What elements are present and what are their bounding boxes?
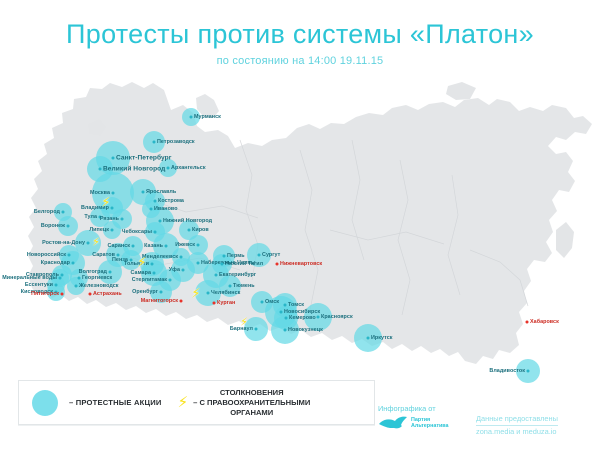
city-marker — [59, 277, 62, 280]
city-label: Самара — [131, 270, 151, 276]
city-marker — [276, 263, 279, 266]
data-source-line1: Данные предоставлены — [476, 413, 558, 426]
city-marker — [61, 293, 64, 296]
party-bird-icon — [378, 415, 408, 431]
city-marker — [190, 116, 193, 119]
city-marker — [207, 292, 210, 295]
city-marker — [182, 269, 185, 272]
city-marker — [109, 271, 112, 274]
city-label: Кемерово — [289, 315, 316, 321]
city-label: Железноводск — [79, 283, 119, 289]
data-source: Данные предоставлены zona.media и meduza… — [476, 413, 558, 437]
city-marker — [215, 274, 218, 277]
city-marker — [151, 263, 154, 266]
legend-clash-line1: СТОЛКНОВЕНИЯ — [193, 388, 310, 398]
city-label: Санкт-Петербург — [116, 155, 172, 162]
city-marker — [111, 207, 114, 210]
credits: Инфографика от Партия Альтернатива Данны… — [378, 404, 588, 444]
city-label: Великий Новгород — [103, 166, 165, 173]
city-label: Краснодар — [41, 260, 70, 266]
city-marker — [121, 218, 124, 221]
protest-circle-icon — [32, 390, 58, 416]
city-label: Нижний Тагил — [225, 261, 263, 267]
city-marker — [68, 254, 71, 257]
data-source-line2: zona.media и meduza.io — [476, 426, 558, 437]
city-marker — [112, 157, 115, 160]
city-label: Липецк — [89, 227, 109, 233]
city-marker — [284, 304, 287, 307]
city-label: Астрахань — [93, 291, 122, 297]
city-marker — [89, 293, 92, 296]
city-label: Воронеж — [41, 223, 65, 229]
city-marker — [72, 262, 75, 265]
city-label: Тула — [84, 214, 97, 220]
infographic-by-label: Инфографика от — [378, 404, 436, 413]
city-marker — [229, 285, 232, 288]
city-label: Челябинск — [211, 290, 240, 296]
city-marker — [284, 329, 287, 332]
header: Протесты против системы «Платон» по сост… — [0, 18, 600, 68]
city-label: Иваново — [154, 206, 178, 212]
city-marker — [526, 321, 529, 324]
city-marker — [258, 254, 261, 257]
city-label: Нижневартовск — [280, 261, 322, 267]
city-marker — [117, 254, 120, 257]
city-label: Кострома — [158, 198, 184, 204]
city-label: Владивосток — [489, 368, 525, 374]
legend: – ПРОТЕСТНЫЕ АКЦИИ ⚡ СТОЛКНОВЕНИЯ – С ПР… — [18, 380, 375, 425]
legend-clash-label: СТОЛКНОВЕНИЯ – С ПРАВООХРАНИТЕЛЬНЫМИ ОРГ… — [193, 388, 310, 418]
city-label: Саранск — [107, 243, 130, 249]
city-label: Белгород — [34, 209, 60, 215]
city-marker — [167, 167, 170, 170]
city-marker — [159, 220, 162, 223]
party-name: Партия Альтернатива — [411, 417, 449, 430]
city-marker — [160, 291, 163, 294]
city-label: Екатеринбург — [219, 272, 256, 278]
party-name-line2: Альтернатива — [411, 423, 449, 430]
city-label: Ростов-на-Дону — [42, 240, 85, 246]
clash-bolt-icon: ⚡ — [240, 318, 248, 329]
city-label: Томск — [288, 302, 304, 308]
city-marker — [142, 191, 145, 194]
city-marker — [223, 255, 226, 258]
city-label: Уфа — [169, 267, 180, 273]
city-marker — [154, 200, 157, 203]
city-marker — [165, 245, 168, 248]
city-marker — [213, 302, 216, 305]
city-label: Хабаровск — [530, 319, 559, 325]
city-marker — [99, 168, 102, 171]
city-label: Оренбург — [132, 289, 158, 295]
city-marker — [153, 272, 156, 275]
city-marker — [67, 225, 70, 228]
city-marker — [180, 256, 183, 259]
city-marker — [317, 316, 320, 319]
city-label: Минеральные воды — [2, 275, 57, 281]
city-label: Сургут — [262, 252, 280, 258]
city-label: Петрозаводск — [157, 139, 195, 145]
legend-clash-line2: – С ПРАВООХРАНИТЕЛЬНЫМИ — [193, 398, 310, 408]
clash-bolt-icon: ⚡ — [92, 238, 100, 249]
city-marker — [153, 141, 156, 144]
city-label: Нижний Новгород — [163, 218, 212, 224]
city-label: Мурманск — [194, 114, 221, 120]
city-label: Менделеевск — [142, 254, 178, 260]
city-marker — [169, 279, 172, 282]
city-label: Архангельск — [171, 165, 206, 171]
city-marker — [197, 244, 200, 247]
city-label: Казань — [144, 243, 163, 249]
city-marker — [111, 229, 114, 232]
city-label: Пятигорск — [31, 291, 59, 297]
city-marker — [62, 211, 65, 214]
city-label: Иркутск — [371, 335, 393, 341]
city-label: Чебоксары — [122, 229, 152, 235]
clash-bolt-icon: ⚡ — [101, 196, 110, 209]
city-marker — [55, 284, 58, 287]
city-label: Ижевск — [175, 242, 195, 248]
city-label: Новороссийск — [27, 252, 66, 258]
city-marker — [255, 328, 258, 331]
city-label: Киров — [192, 227, 209, 233]
city-label: Тюмень — [233, 283, 255, 289]
city-marker — [197, 262, 200, 265]
city-marker — [261, 301, 264, 304]
city-label: Ессентуки — [25, 282, 53, 288]
city-marker — [112, 192, 115, 195]
city-label: Новокузнецк — [288, 327, 323, 333]
city-marker — [280, 311, 283, 314]
city-marker — [180, 300, 183, 303]
party-logo[interactable]: Партия Альтернатива — [378, 415, 449, 431]
city-marker — [527, 370, 530, 373]
city-marker — [188, 229, 191, 232]
clash-bolt-icon: ⚡ — [137, 256, 146, 269]
city-marker — [78, 277, 81, 280]
city-marker — [367, 337, 370, 340]
city-label: Саратов — [92, 252, 115, 258]
russia-map: МурманскПетрозаводскСанкт-ПетербургАрхан… — [0, 80, 600, 370]
city-label: Пермь — [227, 253, 245, 259]
city-label: Магнитогорск — [141, 298, 178, 304]
clash-bolt-icon: ⚡ — [191, 287, 200, 300]
legend-protest-label: – ПРОТЕСТНЫЕ АКЦИИ — [69, 398, 162, 407]
legend-clash-line3: ОРГАНАМИ — [193, 408, 310, 418]
city-label: Курган — [217, 300, 235, 306]
city-label: Ярославль — [146, 189, 176, 195]
city-marker — [75, 285, 78, 288]
city-label: Рязань — [100, 216, 119, 222]
city-label: Омск — [265, 299, 279, 305]
page-title: Протесты против системы «Платон» — [0, 18, 600, 50]
city-marker — [154, 231, 157, 234]
lightning-bolt-icon: ⚡ — [178, 395, 189, 410]
city-marker — [87, 242, 90, 245]
city-marker — [150, 208, 153, 211]
city-label: Красноярск — [321, 314, 353, 320]
city-marker — [221, 263, 224, 266]
page-subtitle: по состоянию на 14:00 19.11.15 — [0, 54, 600, 68]
infographic-root: Протесты против системы «Платон» по сост… — [0, 0, 600, 450]
city-label: Георгиевск — [82, 275, 112, 281]
city-marker — [285, 317, 288, 320]
city-label: Стерлитамак — [132, 277, 167, 283]
city-marker — [132, 245, 135, 248]
